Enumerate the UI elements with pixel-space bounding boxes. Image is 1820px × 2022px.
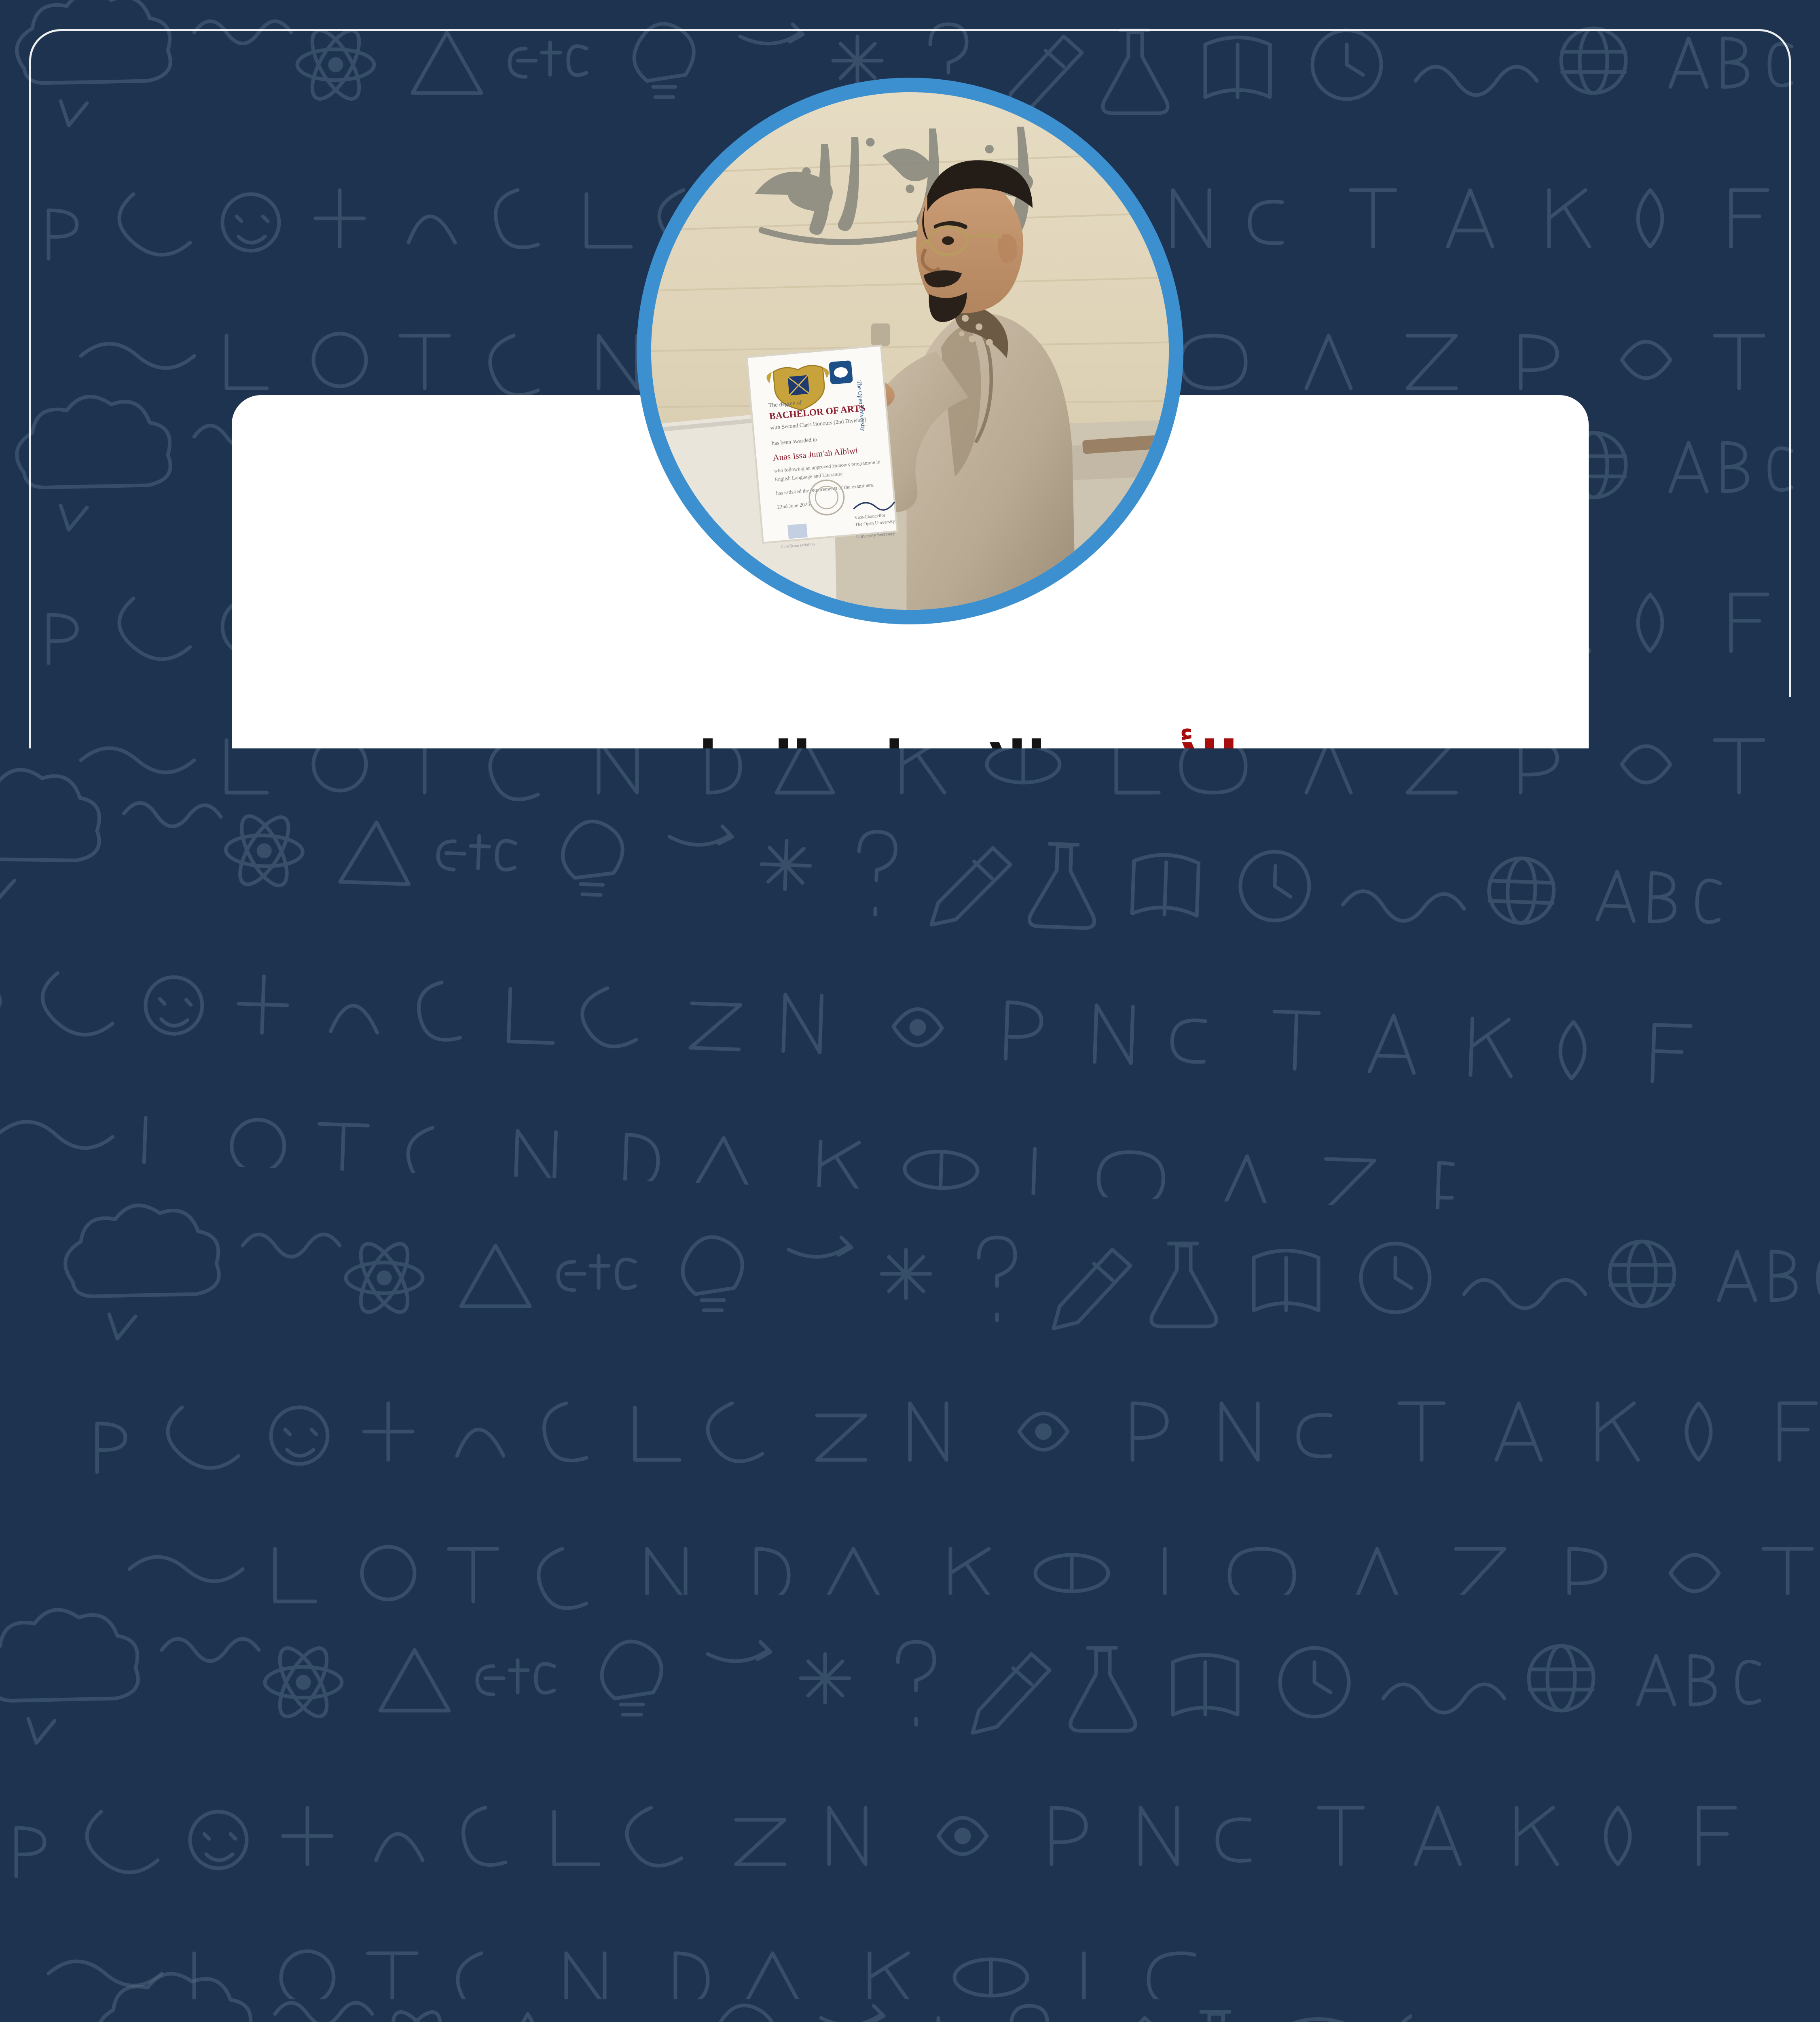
opinion-body: شكرا استاذ الك على كل اشي اعملتوا معنا م…: [368, 967, 1452, 1073]
name-label: الأسم:: [1064, 730, 1238, 792]
student-name-value: الاء علي النواصرة: [582, 730, 1045, 792]
star-filled-icon-4: [968, 1510, 1037, 1579]
advice-body: هذه الدورات الطريق التي سوف توصل جيل 200…: [368, 1304, 1452, 1409]
avatar: The Open University The degree of BACHEL…: [637, 78, 1183, 624]
website-url: TEACHERANAS.COM: [738, 1648, 1083, 1682]
star-filled-icon-2: [784, 1510, 853, 1579]
testimonial-poster: الأسم: الاء علي النواصرة رايه بالتعلم مع…: [0, 0, 1820, 2022]
star-filled-icon-3: [876, 1510, 945, 1579]
star-empty-icon-5: [1060, 1510, 1129, 1579]
opinion-heading: رايه بالتعلم مع الاستاذ انس: [601, 872, 1219, 932]
testimonial-card: الأسم: الاء علي النواصرة رايه بالتعلم مع…: [232, 395, 1589, 1999]
avatar-photo: The Open University The degree of BACHEL…: [651, 92, 1169, 610]
student-name-line: الأسم: الاء علي النواصرة: [582, 727, 1238, 795]
advice-heading: نصيحته لجيل 2009: [694, 1206, 1126, 1266]
star-filled-icon-1: [692, 1510, 760, 1579]
star-rating: [692, 1510, 1129, 1579]
